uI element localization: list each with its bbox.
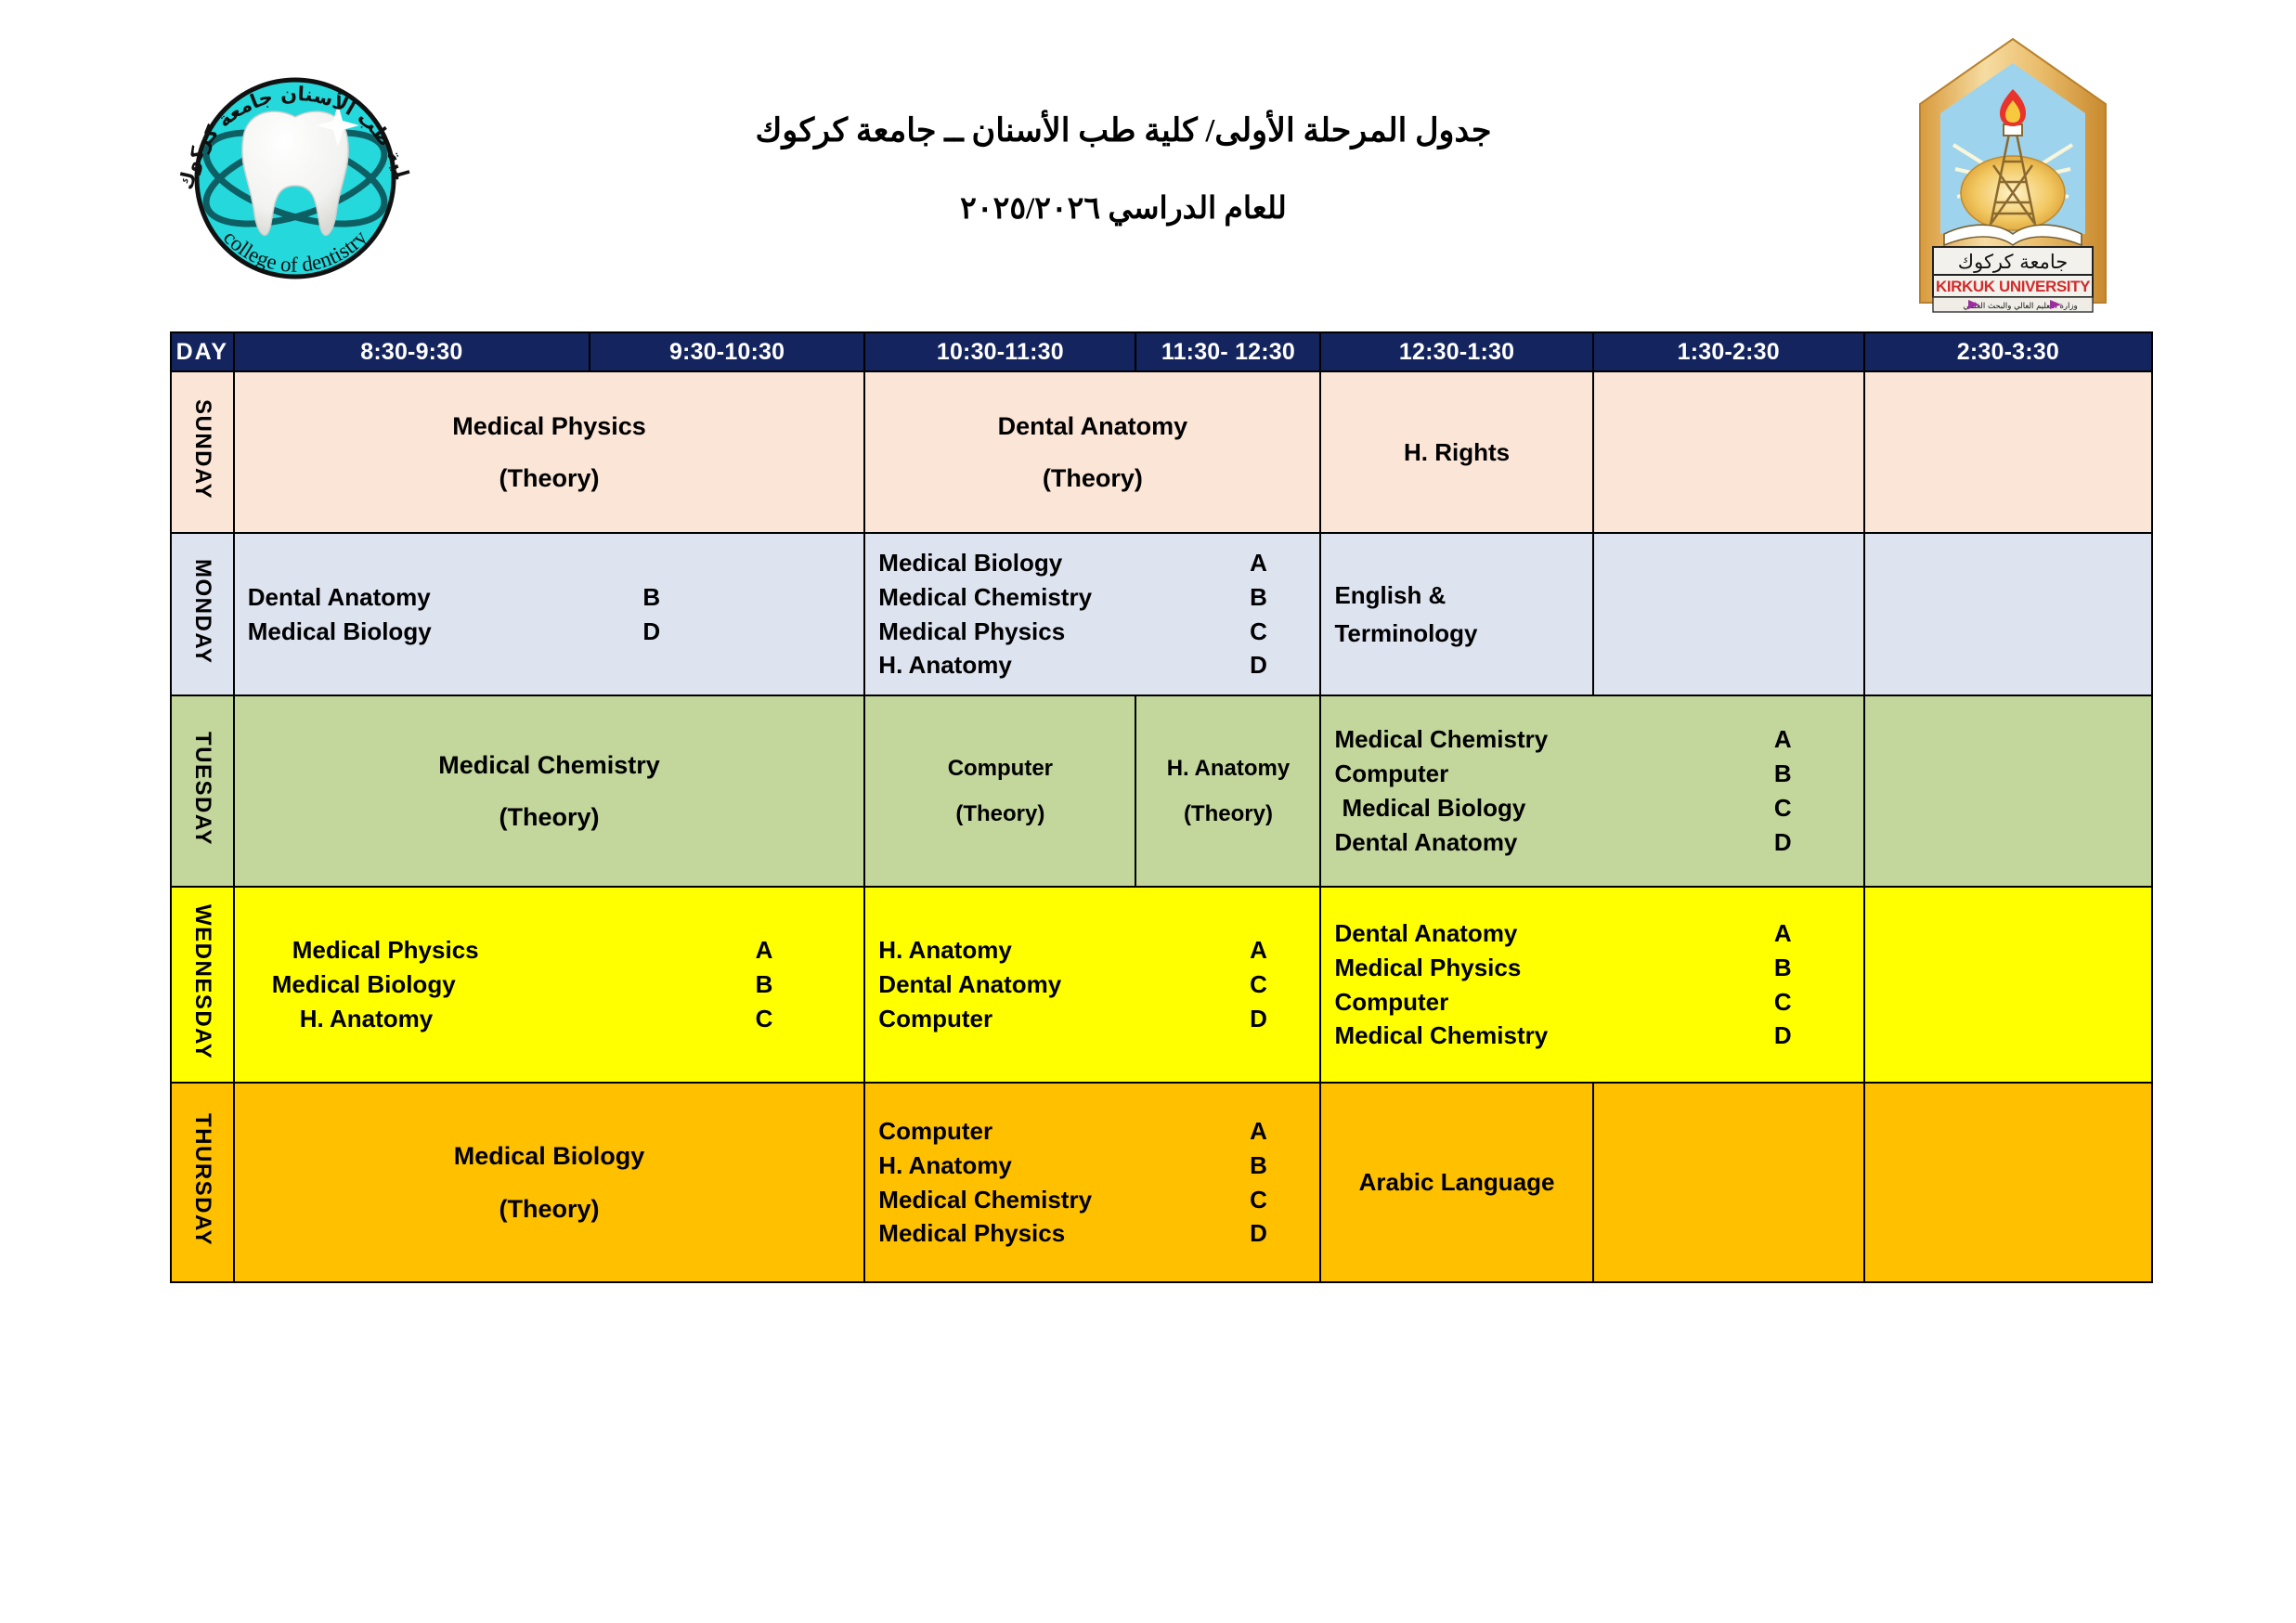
- subject-name: Medical Physics: [878, 615, 1065, 649]
- cell-tuesday-4: Medical ChemistryA ComputerB Medical Bio…: [1320, 695, 1863, 887]
- section-letter: A: [1250, 1114, 1310, 1149]
- subject-name: Medical Chemistry: [1334, 722, 1548, 757]
- cell-thursday-2: ComputerA H. AnatomyB Medical ChemistryC…: [864, 1083, 1320, 1282]
- subject-title: Arabic Language: [1321, 1168, 1591, 1197]
- subject-name: H. Anatomy: [878, 933, 1012, 967]
- day-label-cell-sunday: SUNDAY: [171, 371, 234, 533]
- cell-thursday-5-empty: [1864, 1083, 2152, 1282]
- section-letter: D: [1774, 825, 1854, 860]
- day-label-cell-thursday: THURSDAY: [171, 1083, 234, 1282]
- cell-wednesday-1: Medical PhysicsA Medical BiologyB H. Ana…: [234, 887, 865, 1083]
- cell-monday-1: Dental AnatomyB Medical BiologyD: [234, 533, 865, 695]
- column-header-slot-2: 9:30-10:30: [590, 332, 864, 371]
- svg-text:وزارة التعليم العالي والبحث ال: وزارة التعليم العالي والبحث العلمي: [1963, 302, 2077, 311]
- subject-title: Medical Physics: [452, 412, 646, 440]
- cell-sunday-2: Dental Anatomy (Theory): [864, 371, 1320, 533]
- list-item: ComputerB: [1334, 757, 1853, 791]
- section-letter: D: [642, 615, 854, 649]
- cell-sunday-4-empty: [1593, 371, 1864, 533]
- section-letter: C: [1250, 967, 1310, 1002]
- section-letter: C: [1774, 791, 1854, 825]
- subject-title: Medical Chemistry: [438, 751, 660, 779]
- section-letter: A: [1250, 546, 1310, 580]
- subject-list: Dental AnatomyA Medical PhysicsB Compute…: [1321, 916, 1862, 1054]
- column-header-slot-5: 12:30-1:30: [1320, 332, 1592, 371]
- day-label-thursday: THURSDAY: [189, 1113, 215, 1246]
- subject-name: Computer: [1334, 757, 1448, 791]
- subject-list: Medical PhysicsA Medical BiologyB H. Ana…: [235, 933, 864, 1036]
- subject-list: Medical ChemistryA ComputerB Medical Bio…: [1321, 722, 1862, 860]
- list-item: Dental AnatomyC: [878, 967, 1310, 1002]
- dentistry-logo-art: كلية طب الأسنان جامعة كركوك college of d…: [156, 32, 435, 310]
- subject-list: Dental AnatomyB Medical BiologyD: [235, 580, 864, 649]
- section-letter: B: [756, 967, 855, 1002]
- subject-title: H. Anatomy: [1167, 756, 1290, 781]
- subject-title: Computer: [948, 756, 1053, 781]
- list-item: Medical BiologyB: [272, 967, 855, 1002]
- svg-text:KIRKUK UNIVERSITY: KIRKUK UNIVERSITY: [1936, 278, 2091, 295]
- subject-name: Computer: [878, 1114, 992, 1149]
- list-item: Medical ChemistryA: [1334, 722, 1853, 757]
- subject-name: Medical Biology: [1334, 791, 1525, 825]
- cell-monday-5-empty: [1864, 533, 2152, 695]
- subject-subtitle: (Theory): [235, 804, 864, 830]
- subject-title: English & Terminology: [1321, 577, 1591, 652]
- subject-name: Medical Chemistry: [878, 580, 1092, 615]
- section-letter: D: [1250, 648, 1310, 682]
- subject-name: H. Anatomy: [878, 648, 1012, 682]
- subject-name: Dental Anatomy: [248, 580, 431, 615]
- cell-monday-3: English & Terminology: [1320, 533, 1592, 695]
- list-item: Medical PhysicsC: [878, 615, 1310, 649]
- subject-title: H. Rights: [1321, 438, 1591, 467]
- cell-monday-4-empty: [1593, 533, 1864, 695]
- table-row-tuesday: TUESDAY Medical Chemistry (Theory) Compu…: [171, 695, 2152, 887]
- list-item: ComputerD: [878, 1002, 1310, 1036]
- subject-name: Medical Biology: [272, 967, 456, 1002]
- academic-year-subtitle: للعام الدراسي ٢٠٢٥/٢٠٢٦: [576, 189, 1671, 227]
- list-item: Medical BiologyC: [1334, 791, 1853, 825]
- column-header-slot-1: 8:30-9:30: [234, 332, 590, 371]
- list-item: ComputerA: [878, 1114, 1310, 1149]
- subject-name: Medical Biology: [878, 546, 1062, 580]
- section-letter: D: [1250, 1002, 1310, 1036]
- subject-name: Medical Chemistry: [878, 1183, 1092, 1217]
- column-header-slot-7: 2:30-3:30: [1864, 332, 2152, 371]
- section-letter: A: [1774, 916, 1854, 951]
- list-item: H. AnatomyB: [878, 1149, 1310, 1183]
- document-title-block: جدول المرحلة الأولى/ كلية طب الأسنان ــ …: [576, 111, 1671, 227]
- subject-list: Medical BiologyA Medical ChemistryB Medi…: [865, 546, 1319, 683]
- section-letter: A: [1250, 933, 1310, 967]
- subject-title: Dental Anatomy: [998, 412, 1188, 440]
- cell-sunday-3: H. Rights: [1320, 371, 1592, 533]
- page-header: كلية طب الأسنان جامعة كركوك college of d…: [0, 0, 2296, 316]
- cell-monday-2: Medical BiologyA Medical ChemistryB Medi…: [864, 533, 1320, 695]
- table-header-row: DAY 8:30-9:30 9:30-10:30 10:30-11:30 11:…: [171, 332, 2152, 371]
- day-label-wednesday: WEDNESDAY: [189, 904, 215, 1059]
- column-header-slot-3: 10:30-11:30: [864, 332, 1135, 371]
- cell-tuesday-3: H. Anatomy (Theory): [1135, 695, 1320, 887]
- cell-sunday-1: Medical Physics (Theory): [234, 371, 865, 533]
- subject-name: Dental Anatomy: [1334, 825, 1517, 860]
- cell-wednesday-3: Dental AnatomyA Medical PhysicsB Compute…: [1320, 887, 1863, 1083]
- section-letter: A: [756, 933, 855, 967]
- list-item: H. AnatomyA: [878, 933, 1310, 967]
- subject-name: H. Anatomy: [878, 1149, 1012, 1183]
- subject-name: Medical Biology: [248, 615, 432, 649]
- table-row-wednesday: WEDNESDAY Medical PhysicsA Medical Biolo…: [171, 887, 2152, 1083]
- section-letter: B: [642, 580, 854, 615]
- table-row-thursday: THURSDAY Medical Biology (Theory) Comput…: [171, 1083, 2152, 1282]
- subject-name: Medical Physics: [272, 933, 479, 967]
- table-row-monday: MONDAY Dental AnatomyB Medical BiologyD …: [171, 533, 2152, 695]
- list-item: Medical ChemistryC: [878, 1183, 1310, 1217]
- cell-tuesday-5-empty: [1864, 695, 2152, 887]
- list-item: Medical PhysicsB: [1334, 951, 1853, 985]
- day-label-cell-monday: MONDAY: [171, 533, 234, 695]
- list-item: ComputerC: [1334, 985, 1853, 1019]
- column-header-day: DAY: [171, 332, 234, 371]
- subject-subtitle: (Theory): [1136, 802, 1319, 825]
- list-item: Medical PhysicsD: [878, 1216, 1310, 1251]
- day-label-tuesday: TUESDAY: [189, 732, 215, 846]
- cell-thursday-1: Medical Biology (Theory): [234, 1083, 865, 1282]
- cell-wednesday-2: H. AnatomyA Dental AnatomyC ComputerD: [864, 887, 1320, 1083]
- section-letter: D: [1250, 1216, 1310, 1251]
- day-label-cell-tuesday: TUESDAY: [171, 695, 234, 887]
- subject-name: Computer: [878, 1002, 992, 1036]
- section-letter: B: [1250, 580, 1310, 615]
- list-item: Medical ChemistryB: [878, 580, 1310, 615]
- section-letter: D: [1774, 1019, 1854, 1053]
- subject-name: Dental Anatomy: [878, 967, 1061, 1002]
- section-letter: B: [1250, 1149, 1310, 1183]
- list-item: Dental AnatomyB: [248, 580, 855, 615]
- page-title: جدول المرحلة الأولى/ كلية طب الأسنان ــ …: [576, 111, 1671, 150]
- cell-tuesday-1: Medical Chemistry (Theory): [234, 695, 865, 887]
- cell-sunday-5-empty: [1864, 371, 2152, 533]
- section-letter: C: [1250, 615, 1310, 649]
- list-item: H. AnatomyD: [878, 648, 1310, 682]
- subject-line-2: Terminology: [1334, 615, 1591, 652]
- schedule-table-container: DAY 8:30-9:30 9:30-10:30 10:30-11:30 11:…: [170, 331, 2153, 1283]
- subject-name: H. Anatomy: [272, 1002, 434, 1036]
- cell-thursday-4-empty: [1593, 1083, 1864, 1282]
- cell-thursday-3: Arabic Language: [1320, 1083, 1592, 1282]
- list-item: Medical BiologyA: [878, 546, 1310, 580]
- subject-name: Computer: [1334, 985, 1448, 1019]
- section-letter: B: [1774, 951, 1854, 985]
- list-item: Dental AnatomyA: [1334, 916, 1853, 951]
- subject-name: Medical Physics: [1334, 951, 1521, 985]
- list-item: Medical PhysicsA: [272, 933, 855, 967]
- subject-line-1: English &: [1334, 577, 1591, 614]
- cell-wednesday-4-empty: [1864, 887, 2152, 1083]
- svg-text:جامعة كركوك: جامعة كركوك: [1958, 251, 2068, 273]
- subject-name: Medical Physics: [878, 1216, 1065, 1251]
- section-letter: C: [1774, 985, 1854, 1019]
- list-item: Medical ChemistryD: [1334, 1019, 1853, 1053]
- subject-subtitle: (Theory): [235, 1196, 864, 1222]
- college-of-dentistry-logo: كلية طب الأسنان جامعة كركوك college of d…: [156, 32, 435, 310]
- list-item: H. AnatomyC: [272, 1002, 855, 1036]
- subject-name: Dental Anatomy: [1334, 916, 1517, 951]
- day-label-monday: MONDAY: [189, 559, 215, 664]
- section-letter: B: [1774, 757, 1854, 791]
- subject-subtitle: (Theory): [865, 802, 1135, 825]
- cell-tuesday-2: Computer (Theory): [864, 695, 1135, 887]
- kirkuk-crest-art: جامعة كركوك KIRKUK UNIVERSITY وزارة التع…: [1901, 24, 2124, 314]
- column-header-slot-6: 1:30-2:30: [1593, 332, 1864, 371]
- subject-list: ComputerA H. AnatomyB Medical ChemistryC…: [865, 1114, 1319, 1252]
- column-header-slot-4: 11:30- 12:30: [1135, 332, 1320, 371]
- weekly-schedule-table: DAY 8:30-9:30 9:30-10:30 10:30-11:30 11:…: [170, 331, 2153, 1283]
- section-letter: C: [1250, 1183, 1310, 1217]
- list-item: Dental AnatomyD: [1334, 825, 1853, 860]
- section-letter: A: [1774, 722, 1854, 757]
- subject-subtitle: (Theory): [235, 465, 864, 491]
- subject-list: H. AnatomyA Dental AnatomyC ComputerD: [865, 933, 1319, 1036]
- subject-name: Medical Chemistry: [1334, 1019, 1548, 1053]
- section-letter: C: [756, 1002, 855, 1036]
- day-label-sunday: SUNDAY: [189, 399, 215, 500]
- list-item: Medical BiologyD: [248, 615, 855, 649]
- subject-subtitle: (Theory): [865, 465, 1319, 491]
- day-label-cell-wednesday: WEDNESDAY: [171, 887, 234, 1083]
- subject-title: Medical Biology: [454, 1142, 645, 1170]
- table-row-sunday: SUNDAY Medical Physics (Theory) Dental A…: [171, 371, 2152, 533]
- kirkuk-university-crest: جامعة كركوك KIRKUK UNIVERSITY وزارة التع…: [1901, 24, 2124, 314]
